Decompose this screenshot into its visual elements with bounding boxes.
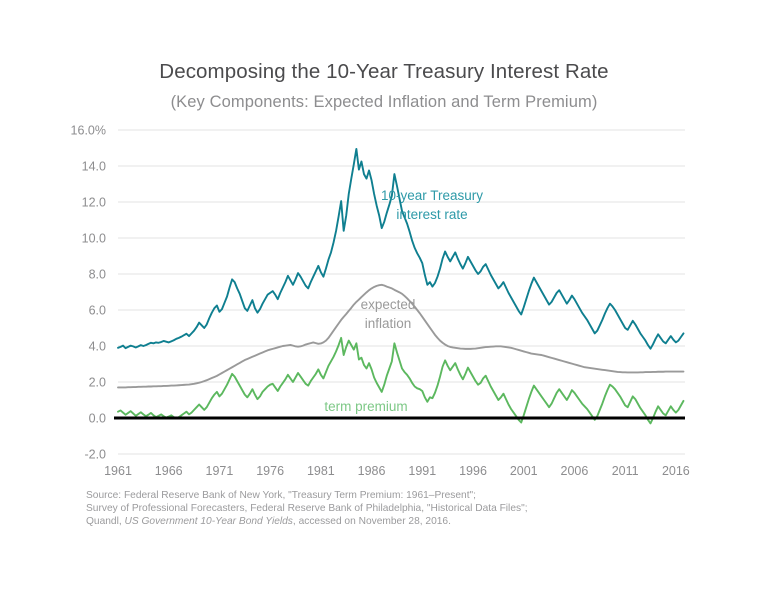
source-line-1: Source: Federal Reserve Bank of New York… [86,489,686,502]
source-line-3-post: , accessed on November 28, 2016. [293,516,451,527]
y-axis-tick-labels: -2.00.02.04.06.08.010.012.014.016.0% [71,124,106,462]
inflation-label: expectedinflation [361,297,416,331]
x-axis-tick-label: 1961 [104,464,132,478]
series-annotations: 10-year Treasuryinterest rateexpectedinf… [324,188,483,414]
y-axis-tick-label: 2.0 [89,376,106,390]
x-axis-tick-label: 1971 [206,464,234,478]
source-line-3: Quandl, US Government 10-Year Bond Yield… [86,515,686,528]
source-line-3-pre: Quandl, [86,516,125,527]
y-axis-tick-label: 0.0 [89,412,106,426]
source-line-2: Survey of Professional Forecasters, Fede… [86,502,686,515]
x-axis-tick-label: 1986 [358,464,386,478]
source-note: Source: Federal Reserve Bank of New York… [86,489,686,529]
x-axis-tick-label: 1991 [408,464,436,478]
x-axis-tick-label: 2001 [510,464,538,478]
x-axis-tick-label: 1996 [459,464,487,478]
y-axis-tick-label: 14.0 [82,160,106,174]
x-axis-tick-label: 2011 [612,464,639,478]
source-line-3-italic: US Government 10-Year Bond Yields [125,516,293,527]
y-axis-tick-label: 10.0 [82,232,106,246]
y-axis-tick-label: 16.0% [71,124,106,138]
x-axis-tick-label: 2006 [561,464,589,478]
x-axis-tick-label: 2016 [662,464,690,478]
treasury-label: 10-year Treasuryinterest rate [381,188,483,222]
y-axis-tick-label: -2.0 [84,448,106,462]
y-axis-tick-label: 12.0 [82,196,106,210]
term-premium-label: term premium [324,399,407,414]
x-axis-tick-labels: 1961196619711976198119861991199620012006… [104,464,690,478]
y-axis-tick-label: 8.0 [89,268,106,282]
chart-figure: Decomposing the 10-Year Treasury Interes… [0,0,768,593]
x-axis-tick-label: 1976 [256,464,284,478]
y-axis-tick-label: 6.0 [89,304,106,318]
x-axis-tick-label: 1981 [307,464,335,478]
y-axis-tick-label: 4.0 [89,340,106,354]
x-axis-tick-label: 1966 [155,464,183,478]
